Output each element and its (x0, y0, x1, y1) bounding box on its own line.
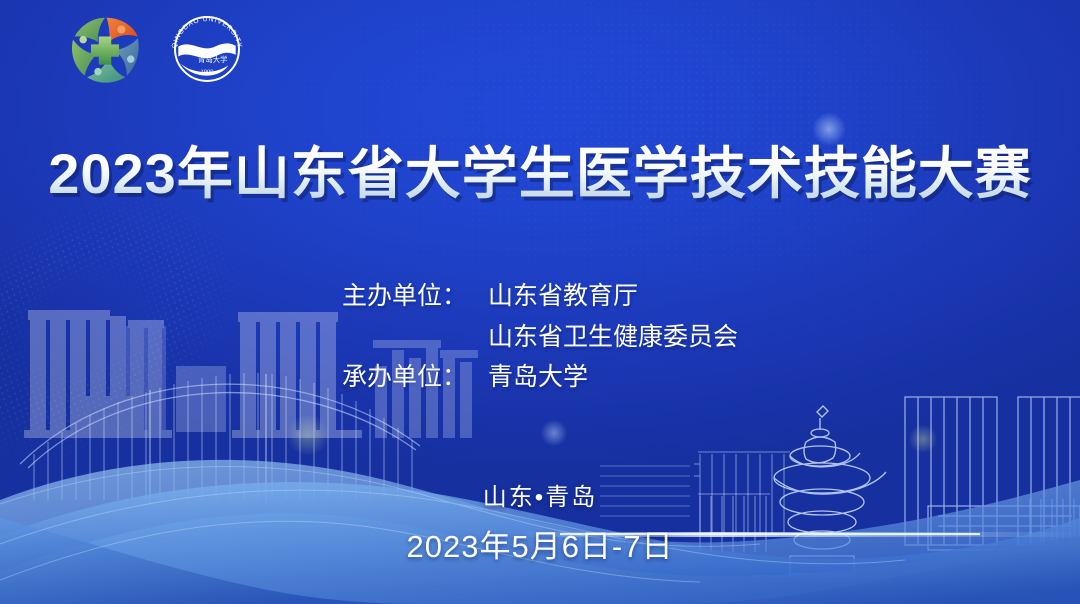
svg-text:1909: 1909 (200, 69, 213, 76)
glow-spot-icon (812, 112, 846, 146)
svg-text:青岛大学: 青岛大学 (198, 55, 228, 64)
event-date: 2023年5月6日-7日 (0, 521, 1080, 566)
qingdao-university-logo-icon: QINGDAO UNIVERSITY 青岛大学 1909 (166, 8, 248, 90)
poster-root: QINGDAO UNIVERSITY 青岛大学 1909 2023年山东省大学生… (0, 0, 1080, 604)
event-location: 山东•青岛 (0, 477, 1080, 512)
footer-block: 山东•青岛 2023年5月6日-7日 (0, 477, 1080, 566)
svg-text:QINGDAO UNIVERSITY: QINGDAO UNIVERSITY (171, 16, 243, 49)
page-title: 2023年山东省大学生医学技术技能大赛 (0, 143, 1080, 206)
medical-skills-competition-logo-icon (66, 10, 144, 88)
logo-row: QINGDAO UNIVERSITY 青岛大学 1909 (66, 8, 248, 90)
